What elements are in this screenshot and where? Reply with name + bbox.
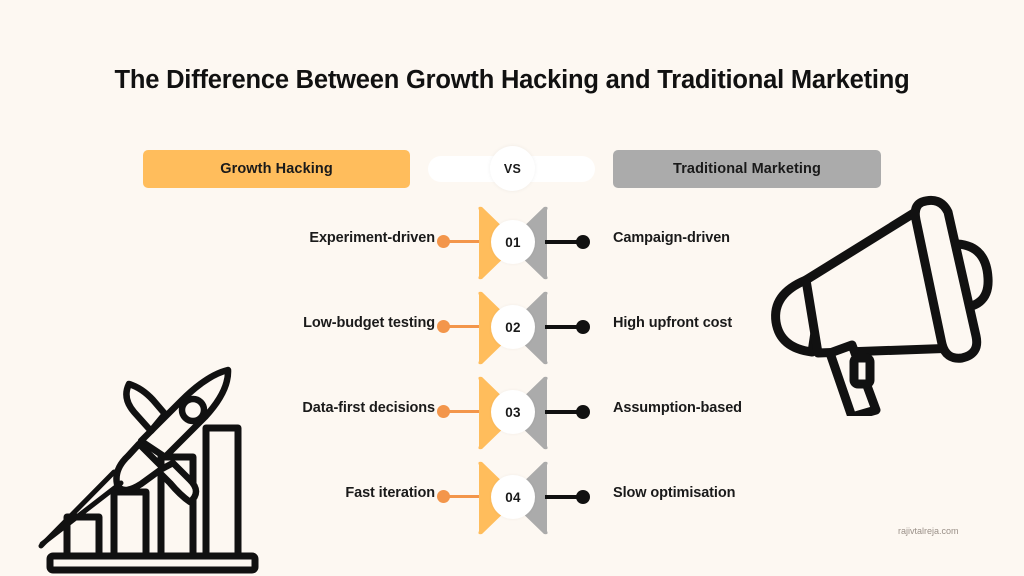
page-title: The Difference Between Growth Hacking an… [0,66,1024,95]
row-label-left: Fast iteration [345,485,435,501]
row-number-label: 02 [505,320,520,335]
header-traditional-marketing-label: Traditional Marketing [673,161,821,177]
row-label-right: Campaign-driven [613,230,730,246]
rocket-growth-chart-icon [10,332,280,576]
vs-badge-label: VS [504,162,521,176]
right-connector-dot-icon [576,405,590,419]
row-label-right: Assumption-based [613,400,742,416]
vs-badge: VS [490,146,535,191]
row-label-left: Experiment-driven [309,230,435,246]
row-number-badge: 04 [491,475,535,519]
row-label-left: Data-first decisions [302,400,435,416]
row-label-right: Slow optimisation [613,485,735,501]
watermark: rajivtalreja.com [898,526,959,536]
row-number-label: 01 [505,235,520,250]
right-connector-dot-icon [576,235,590,249]
row-number-label: 03 [505,405,520,420]
row-number-label: 04 [505,490,520,505]
row-label-left: Low-budget testing [303,315,435,331]
right-connector-dot-icon [576,490,590,504]
header-growth-hacking-label: Growth Hacking [220,161,333,177]
row-number-badge: 02 [491,305,535,349]
header-traditional-marketing: Traditional Marketing [613,150,881,188]
right-connector-dot-icon [576,320,590,334]
header-growth-hacking: Growth Hacking [143,150,410,188]
row-number-badge: 01 [491,220,535,264]
row-label-right: High upfront cost [613,315,732,331]
row-number-badge: 03 [491,390,535,434]
megaphone-icon [762,188,1020,416]
